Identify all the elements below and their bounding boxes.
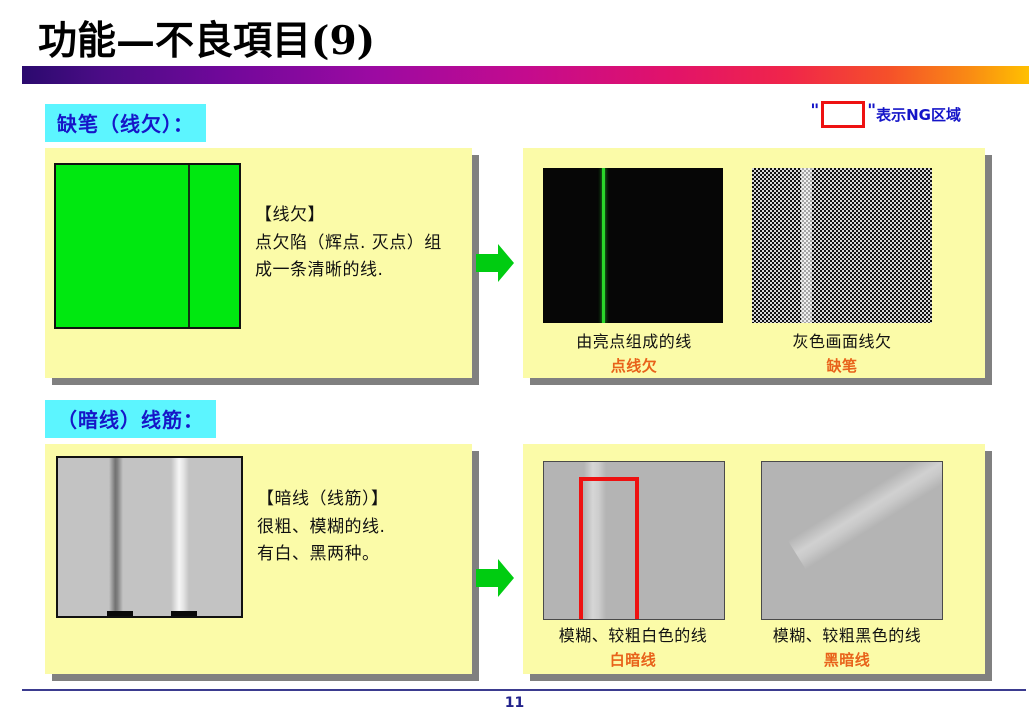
legend-quote-open: " [810,103,819,126]
panel-section2-left: 【暗线（线筋）】 很粗、模糊的线. 有白、黑两种。 [45,444,472,674]
bright-dot-line [602,168,605,323]
ng-red-rectangle-icon [821,101,865,128]
description-line-2: 成一条清晰的线. [255,257,442,285]
gray-screen-black-diagonal-line-image [761,461,943,620]
page-title: 功能—不良項目(9) [38,10,375,66]
caption-bright-dot-line: 由亮点组成的线 点线欠 [537,328,731,376]
footer-divider [22,689,1026,691]
marker-tick-left [107,611,133,616]
description-line-2: 有白、黑两种。 [257,541,389,569]
description-heading: 【暗线（线筋）】 [257,486,389,514]
legend-label: 表示NG区域 [876,104,961,125]
caption-gray-missing-line: 灰色画面线欠 缺笔 [745,328,939,376]
caption-sub: 白暗线 [535,649,731,670]
description-anxian: 【暗线（线筋）】 很粗、模糊的线. 有白、黑两种。 [257,486,389,569]
black-screen-green-line-image [543,168,723,323]
panel-section1-right: 由亮点组成的线 点线欠 灰色画面线欠 缺笔 [523,148,985,378]
description-xianqian: 【线欠】 点欠陷（辉点. 灭点）组 成一条清晰的线. [255,202,442,285]
description-line-1: 点欠陷（辉点. 灭点）组 [255,230,442,258]
panel-section2-right: 模糊、较粗白色的线 白暗线 模糊、较粗黑色的线 黑暗线 [523,444,985,674]
light-blurred-line [171,458,189,616]
green-screen-sample-image [54,163,241,329]
legend-quote-close: " [867,103,876,126]
gray-checker-screen-image [752,168,932,323]
black-blurred-diagonal-line [788,461,943,569]
marker-tick-right [171,611,197,616]
caption-sub: 缺笔 [745,355,939,376]
dark-blurred-line [109,458,123,616]
description-heading: 【线欠】 [255,202,442,230]
ng-highlight-rect-white-line [579,477,639,620]
caption-black-dark-line: 模糊、较粗黑色的线 黑暗线 [749,622,945,670]
caption-sub: 黑暗线 [749,649,945,670]
slide: 功能—不良項目(9) " " 表示NG区域 缺笔（线欠）： 【线欠】 点欠陷（辉… [0,0,1029,709]
section-header-quebi: 缺笔（线欠）： [45,104,206,142]
caption-main: 模糊、较粗黑色的线 [749,622,945,646]
gray-screen-white-line-image [543,461,725,620]
ng-legend: " " 表示NG区域 [810,101,961,128]
description-line-1: 很粗、模糊的线. [257,514,389,542]
gray-screen-sample-image [56,456,243,618]
caption-sub: 点线欠 [537,355,731,376]
caption-main: 模糊、较粗白色的线 [535,622,731,646]
green-screen-divider-line [188,165,190,327]
green-arrow-right-icon-2 [472,555,518,601]
page-number: 11 [0,695,1029,709]
caption-main: 由亮点组成的线 [537,328,731,352]
green-arrow-right-icon-1 [472,240,518,286]
checker-missing-line-band [801,168,812,323]
caption-main: 灰色画面线欠 [745,328,939,352]
panel-section1-left: 【线欠】 点欠陷（辉点. 灭点）组 成一条清晰的线. [45,148,472,378]
caption-white-dark-line: 模糊、较粗白色的线 白暗线 [535,622,731,670]
section-header-anxian: （暗线）线筋： [45,400,216,438]
title-gradient-rule [22,66,1029,84]
